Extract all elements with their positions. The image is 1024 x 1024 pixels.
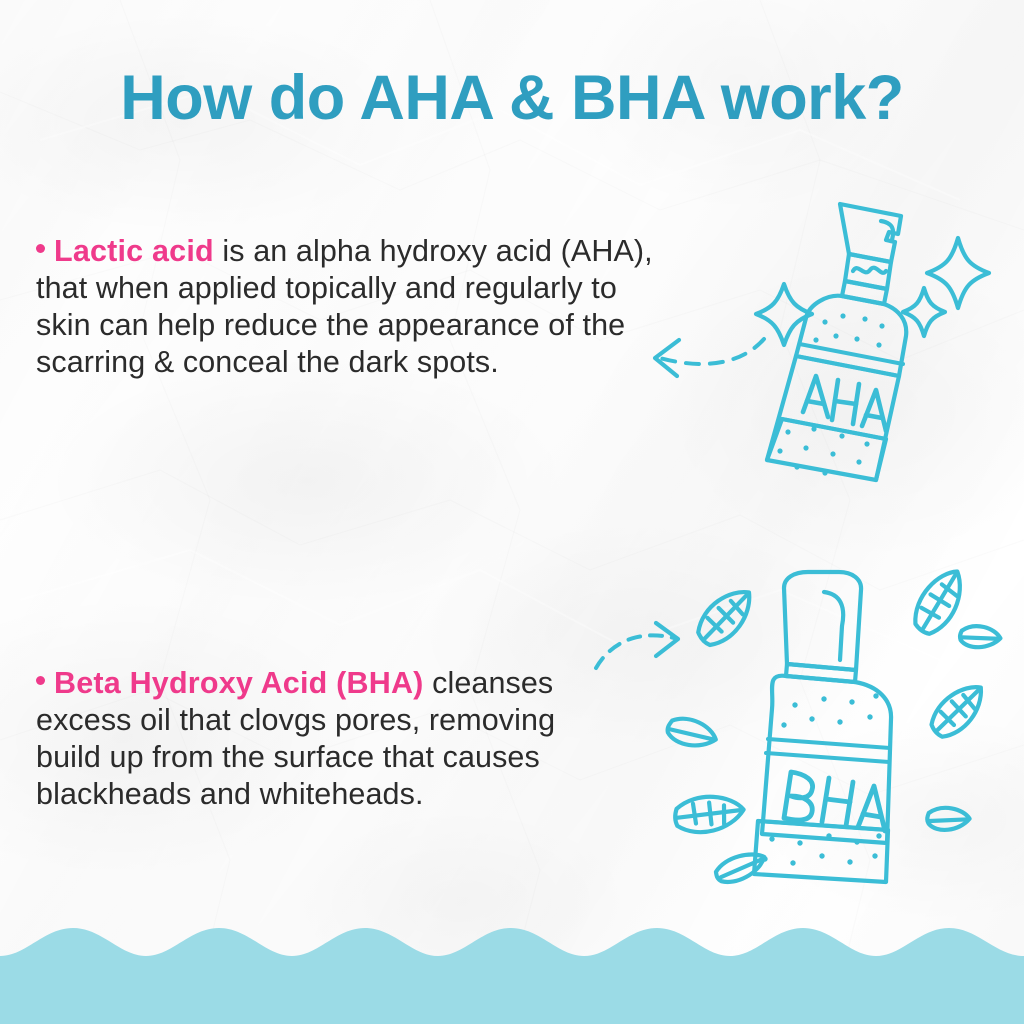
scalloped-wave-border — [0, 924, 1024, 1024]
bha-bottle-label-text — [784, 772, 885, 831]
paragraph-aha: Lactic acid is an alpha hydroxy acid (AH… — [36, 233, 656, 381]
highlight-lactic-acid: Lactic acid — [54, 234, 214, 268]
leaf-icon — [924, 800, 971, 839]
sparkle-icon-right-small — [903, 288, 945, 336]
highlight-beta-hydroxy-acid: Beta Hydroxy Acid (BHA) — [54, 666, 424, 700]
bullet-dot-icon — [36, 676, 45, 685]
aha-bottle-illustration — [636, 186, 1008, 490]
aha-bottle-label-text — [803, 376, 886, 431]
paragraph-bha: Beta Hydroxy Acid (BHA) cleanses excess … — [36, 665, 626, 813]
aha-bottle-body — [767, 204, 906, 480]
leaf-icon — [714, 852, 767, 883]
leaf-icon — [671, 785, 745, 845]
arrow-head-right — [656, 623, 678, 656]
poster-canvas: How do AHA & BHA work? Lactic acid is an… — [0, 0, 1024, 1024]
sparkle-icon-right-large — [927, 238, 989, 308]
sparkle-icon-left — [756, 284, 812, 345]
leaf-icon — [664, 708, 718, 760]
bha-bottle-body — [754, 572, 891, 882]
aha-dots-upper — [813, 313, 884, 347]
leaf-icon — [957, 618, 1002, 657]
bha-dots-upper — [781, 693, 878, 727]
page-title: How do AHA & BHA work? — [0, 62, 1024, 134]
leaf-icon — [690, 588, 763, 649]
bullet-dot-icon — [36, 244, 45, 253]
leaf-icon — [924, 684, 992, 740]
bha-bottle-illustration — [586, 568, 1024, 898]
